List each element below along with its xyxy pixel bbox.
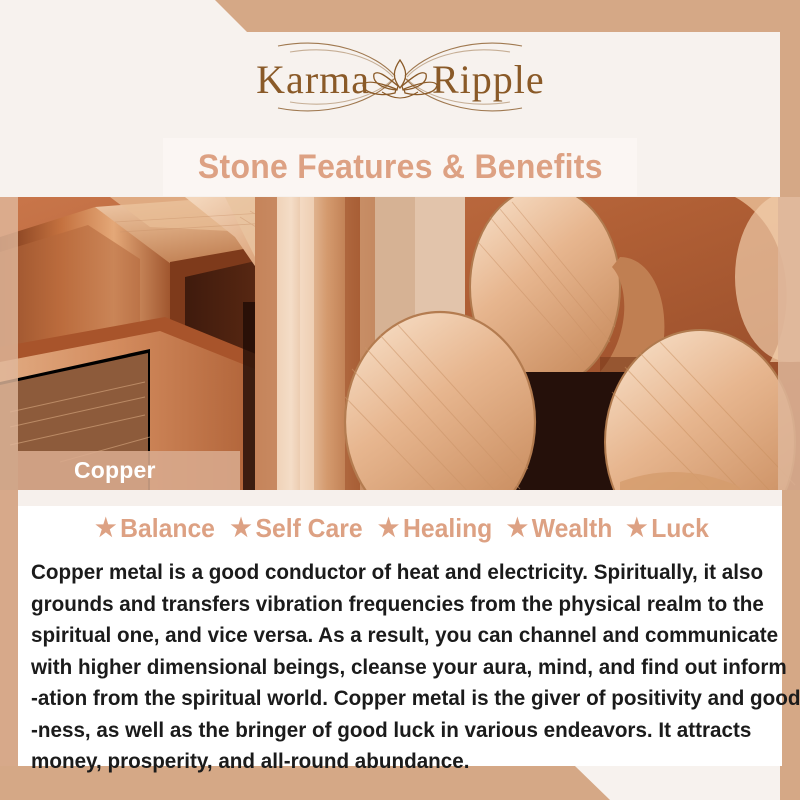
benefit-luck: ★ Luck — [621, 513, 712, 544]
brand-logo-svg: Karma Ripple — [190, 38, 610, 118]
description-line: -ation from the spiritual world. Copper … — [31, 683, 741, 715]
star-icon: ★ — [378, 516, 399, 541]
description-line: with higher dimensional beings, cleanse … — [31, 652, 741, 684]
photo-right-overlay — [778, 197, 800, 490]
description-line: Copper metal is a good conductor of heat… — [31, 557, 741, 589]
benefit-balance: ★ Balance — [89, 513, 217, 544]
stone-name-bar: Copper — [18, 451, 240, 490]
copper-rods-illustration — [0, 197, 800, 490]
brand-name-right: Ripple — [432, 57, 545, 102]
benefit-label: Wealth — [532, 513, 615, 544]
stone-name-label: Copper — [74, 457, 156, 484]
title-banner: Stone Features & Benefits — [163, 138, 637, 196]
benefit-healing: ★ Healing — [372, 513, 495, 544]
star-icon: ★ — [95, 516, 116, 541]
benefits-row: ★ Balance ★ Self Care ★ Healing ★ Wealth… — [18, 508, 782, 548]
benefit-label: Healing — [403, 513, 495, 544]
description-line: grounds and transfers vibration frequenc… — [31, 589, 741, 621]
benefit-self-care: ★ Self Care — [224, 513, 365, 544]
description-line: -ness, as well as the bringer of good lu… — [31, 715, 741, 747]
star-icon: ★ — [626, 516, 647, 541]
photo-left-overlay — [0, 197, 18, 490]
description-line: spiritual one, and vice versa. As a resu… — [31, 620, 741, 652]
panel-top-fade — [18, 490, 782, 506]
brand-logo: Karma Ripple — [0, 36, 800, 120]
copper-rods-photo — [0, 197, 800, 490]
frame-top-accent — [0, 0, 800, 32]
description-text: Copper metal is a good conductor of heat… — [31, 557, 741, 778]
star-icon: ★ — [507, 516, 528, 541]
brand-name-left: Karma — [256, 57, 370, 102]
benefit-label: Self Care — [255, 513, 365, 544]
description-line: money, prosperity, and all-round abundan… — [31, 746, 741, 778]
infographic-canvas: Karma Ripple Stone Features & Benefits — [0, 0, 800, 800]
benefit-label: Luck — [652, 513, 713, 544]
page-title: Stone Features & Benefits — [198, 148, 603, 187]
benefit-label: Balance — [120, 513, 218, 544]
benefit-wealth: ★ Wealth — [501, 513, 615, 544]
star-icon: ★ — [230, 516, 251, 541]
